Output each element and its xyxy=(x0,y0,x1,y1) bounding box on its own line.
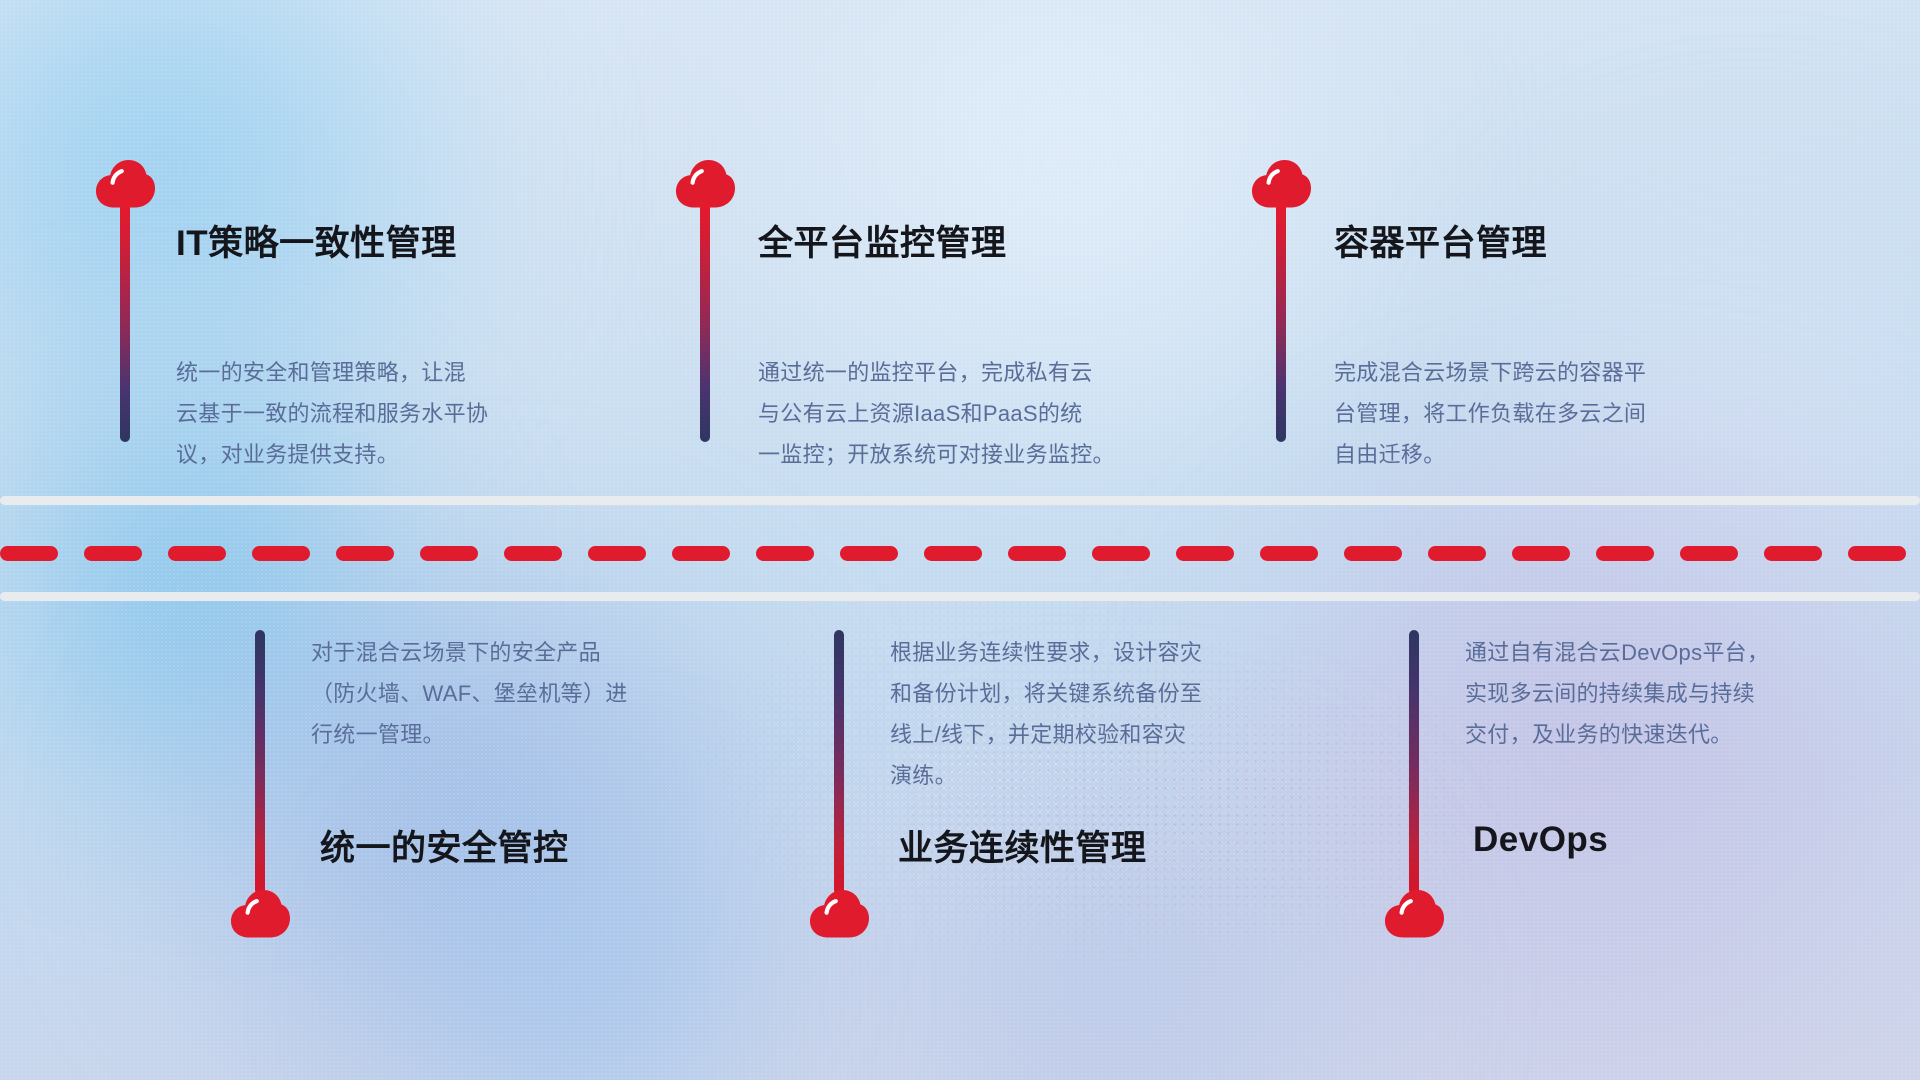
description-line: 一监控；开放系统可对接业务监控。 xyxy=(758,434,1208,475)
milestone-stem xyxy=(120,200,130,442)
road-dash-segment xyxy=(1176,546,1234,561)
road-dash-segment xyxy=(420,546,478,561)
road-dash-segment xyxy=(168,546,226,561)
description-line: 与公有云上资源IaaS和PaaS的统 xyxy=(758,393,1208,434)
road-dash-segment xyxy=(84,546,142,561)
milestone-stem xyxy=(1409,630,1419,895)
road-dash-segment xyxy=(1764,546,1822,561)
description-line: 通过自有混合云DevOps平台， xyxy=(1465,632,1905,673)
description-line: （防火墙、WAF、堡垒机等）进 xyxy=(311,673,741,714)
road-dash-segment xyxy=(840,546,898,561)
road-dash-segment xyxy=(1848,546,1906,561)
description-line: 根据业务连续性要求，设计容灾 xyxy=(890,632,1340,673)
milestone-description: 完成混合云场景下跨云的容器平 台管理，将工作负载在多云之间 自由迁移。 xyxy=(1334,352,1774,475)
description-line: 线上/线下，并定期校验和容灾 xyxy=(890,714,1340,755)
road-edge-line-bottom xyxy=(0,592,1920,601)
milestone-description: 通过自有混合云DevOps平台， 实现多云间的持续集成与持续 交付，及业务的快速… xyxy=(1465,632,1905,755)
milestone-title: 业务连续性管理 xyxy=(898,820,1147,871)
description-line: 对于混合云场景下的安全产品 xyxy=(311,632,741,673)
road-dash-segment xyxy=(1008,546,1066,561)
road-dash-segment xyxy=(252,546,310,561)
road-dash-segment xyxy=(336,546,394,561)
description-line: 统一的安全和管理策略，让混 xyxy=(176,352,606,393)
description-line: 演练。 xyxy=(890,755,1340,796)
road-dash-segment xyxy=(1092,546,1150,561)
road-dash-segment xyxy=(1680,546,1738,561)
description-line: 议，对业务提供支持。 xyxy=(176,434,606,475)
milestone-description: 根据业务连续性要求，设计容灾 和备份计划，将关键系统备份至 线上/线下，并定期校… xyxy=(890,632,1340,796)
milestone-description: 通过统一的监控平台，完成私有云 与公有云上资源IaaS和PaaS的统 一监控；开… xyxy=(758,352,1208,475)
road-edge-line-top xyxy=(0,496,1920,505)
description-line: 行统一管理。 xyxy=(311,714,741,755)
milestone-description: 对于混合云场景下的安全产品 （防火墙、WAF、堡垒机等）进 行统一管理。 xyxy=(311,632,741,755)
description-line: 台管理，将工作负载在多云之间 xyxy=(1334,393,1774,434)
milestone-title: IT策略一致性管理 xyxy=(176,215,457,266)
road-dash-segment xyxy=(1344,546,1402,561)
cloud-icon xyxy=(808,888,870,938)
road-dash-segment xyxy=(0,546,58,561)
milestone-title: 容器平台管理 xyxy=(1334,215,1547,266)
description-line: 交付，及业务的快速迭代。 xyxy=(1465,714,1905,755)
road-dash-segment xyxy=(1428,546,1486,561)
description-line: 云基于一致的流程和服务水平协 xyxy=(176,393,606,434)
road-dash-segment xyxy=(924,546,982,561)
milestone-title: 统一的安全管控 xyxy=(320,820,569,871)
road-dash-segment xyxy=(1512,546,1570,561)
description-line: 实现多云间的持续集成与持续 xyxy=(1465,673,1905,714)
road-dash-segment xyxy=(672,546,730,561)
road-dash-segment xyxy=(588,546,646,561)
milestone-description: 统一的安全和管理策略，让混 云基于一致的流程和服务水平协 议，对业务提供支持。 xyxy=(176,352,606,475)
road-dash-segment xyxy=(1260,546,1318,561)
road-dash-segment xyxy=(756,546,814,561)
milestone-stem xyxy=(1276,200,1286,442)
description-line: 自由迁移。 xyxy=(1334,434,1774,475)
milestone-stem xyxy=(834,630,844,895)
road-dash-segment xyxy=(1596,546,1654,561)
description-line: 和备份计划，将关键系统备份至 xyxy=(890,673,1340,714)
road-dash-segment xyxy=(504,546,562,561)
milestone-stem xyxy=(255,630,265,895)
cloud-icon xyxy=(1383,888,1445,938)
infographic-canvas: IT策略一致性管理 统一的安全和管理策略，让混 云基于一致的流程和服务水平协 议… xyxy=(0,0,1920,1080)
milestone-title: DevOps xyxy=(1473,820,1608,860)
road-center-dashed-line xyxy=(0,546,1920,561)
description-line: 通过统一的监控平台，完成私有云 xyxy=(758,352,1208,393)
cloud-icon xyxy=(229,888,291,938)
milestone-stem xyxy=(700,200,710,442)
milestone-title: 全平台监控管理 xyxy=(758,215,1007,266)
description-line: 完成混合云场景下跨云的容器平 xyxy=(1334,352,1774,393)
